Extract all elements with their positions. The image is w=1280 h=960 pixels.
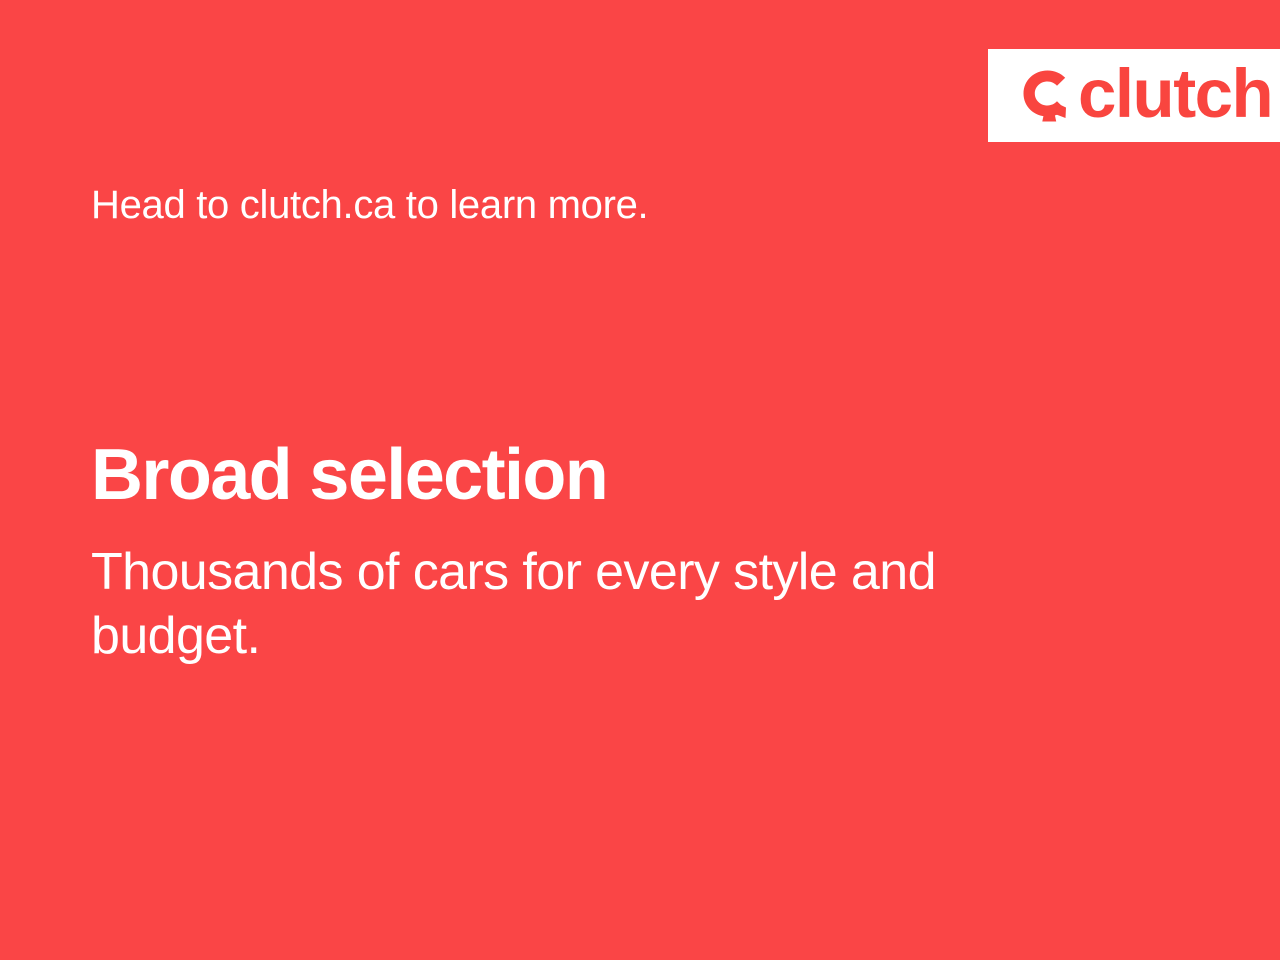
subhead-text: Thousands of cars for every style and bu… bbox=[91, 540, 1031, 669]
brand-logo-plate[interactable]: clutch bbox=[988, 49, 1280, 142]
eyebrow-text: Head to clutch.ca to learn more. bbox=[91, 182, 648, 229]
clutch-c-wheel-icon bbox=[1022, 66, 1074, 124]
clutch-wordmark-text: clutch bbox=[1078, 64, 1272, 123]
page-title: Broad selection bbox=[91, 437, 607, 515]
clutch-logo[interactable]: clutch bbox=[1022, 66, 1272, 125]
slide-canvas: clutch Head to clutch.ca to learn more. … bbox=[0, 0, 1280, 960]
